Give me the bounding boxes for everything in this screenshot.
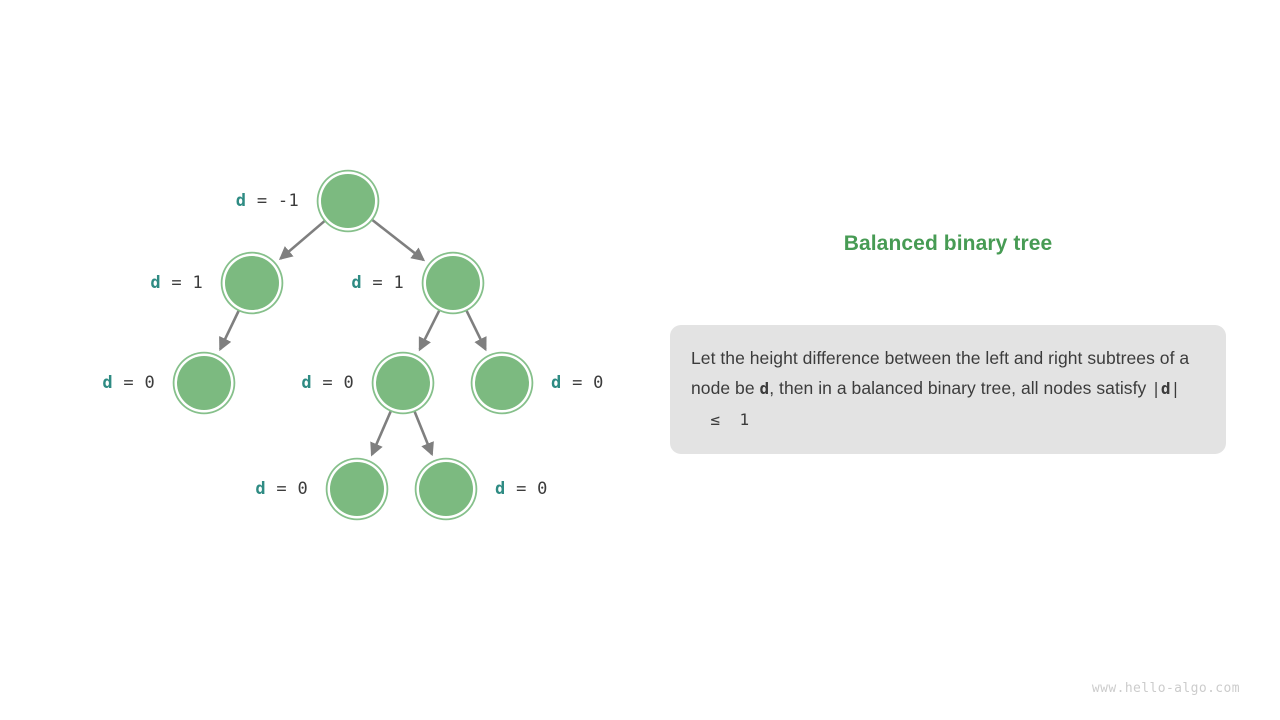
node-balance-label: d = 1	[150, 273, 203, 293]
balance-value: = 0	[266, 479, 308, 499]
tree-edge	[420, 310, 440, 349]
balance-value: = 1	[362, 273, 404, 293]
node-balance-label: d = -1	[236, 191, 299, 211]
variable-d: d	[301, 373, 312, 393]
tree-edge	[281, 221, 325, 259]
tree-node[interactable]	[330, 462, 384, 516]
variable-d-formula: d	[1161, 379, 1171, 398]
tree-node[interactable]	[426, 256, 480, 310]
tree-edge-group	[220, 220, 485, 455]
tree-edge	[466, 310, 485, 349]
variable-d: d	[255, 479, 266, 499]
page-title: Balanced binary tree	[670, 232, 1226, 256]
formula-value: 1	[739, 410, 749, 429]
node-balance-label: d = 1	[351, 273, 404, 293]
tree-node[interactable]	[419, 462, 473, 516]
formula-relation-lte: ≤	[710, 410, 720, 429]
tree-edge	[372, 411, 391, 455]
variable-d: d	[150, 273, 161, 293]
balance-value: = 0	[562, 373, 604, 393]
variable-d: d	[102, 373, 113, 393]
description-box: Let the height difference between the le…	[670, 325, 1226, 454]
site-watermark: www.hello-algo.com	[1092, 681, 1240, 696]
node-balance-label: d = 0	[551, 373, 604, 393]
tree-edge	[414, 411, 431, 454]
description-text: Let the height difference between the le…	[691, 343, 1205, 435]
variable-d-inline: d	[760, 379, 770, 398]
balance-value: = 0	[312, 373, 354, 393]
slide-canvas: d = -1d = 1d = 1d = 0d = 0d = 0d = 0d = …	[0, 0, 1280, 720]
node-balance-label: d = 0	[102, 373, 155, 393]
balance-value: = 0	[506, 479, 548, 499]
formula-bar-open: |	[1151, 379, 1161, 398]
node-balance-label: d = 0	[301, 373, 354, 393]
tree-node[interactable]	[376, 356, 430, 410]
variable-d: d	[551, 373, 562, 393]
node-balance-label: d = 0	[495, 479, 548, 499]
tree-edge	[372, 220, 423, 260]
tree-node[interactable]	[177, 356, 231, 410]
balance-value: = 0	[113, 373, 155, 393]
tree-edges-layer	[0, 0, 660, 720]
tree-node[interactable]	[321, 174, 375, 228]
tree-node[interactable]	[475, 356, 529, 410]
binary-tree-diagram: d = -1d = 1d = 1d = 0d = 0d = 0d = 0d = …	[0, 0, 660, 720]
tree-node[interactable]	[225, 256, 279, 310]
variable-d: d	[236, 191, 247, 211]
node-balance-label: d = 0	[255, 479, 308, 499]
info-panel: Balanced binary tree Let the height diff…	[670, 0, 1226, 720]
variable-d: d	[495, 479, 506, 499]
balance-value: = 1	[161, 273, 203, 293]
variable-d: d	[351, 273, 362, 293]
balance-value: = -1	[246, 191, 299, 211]
tree-edge	[220, 311, 239, 350]
formula-bar-close: |	[1171, 379, 1181, 398]
description-part-2: , then in a balanced binary tree, all no…	[769, 378, 1151, 398]
